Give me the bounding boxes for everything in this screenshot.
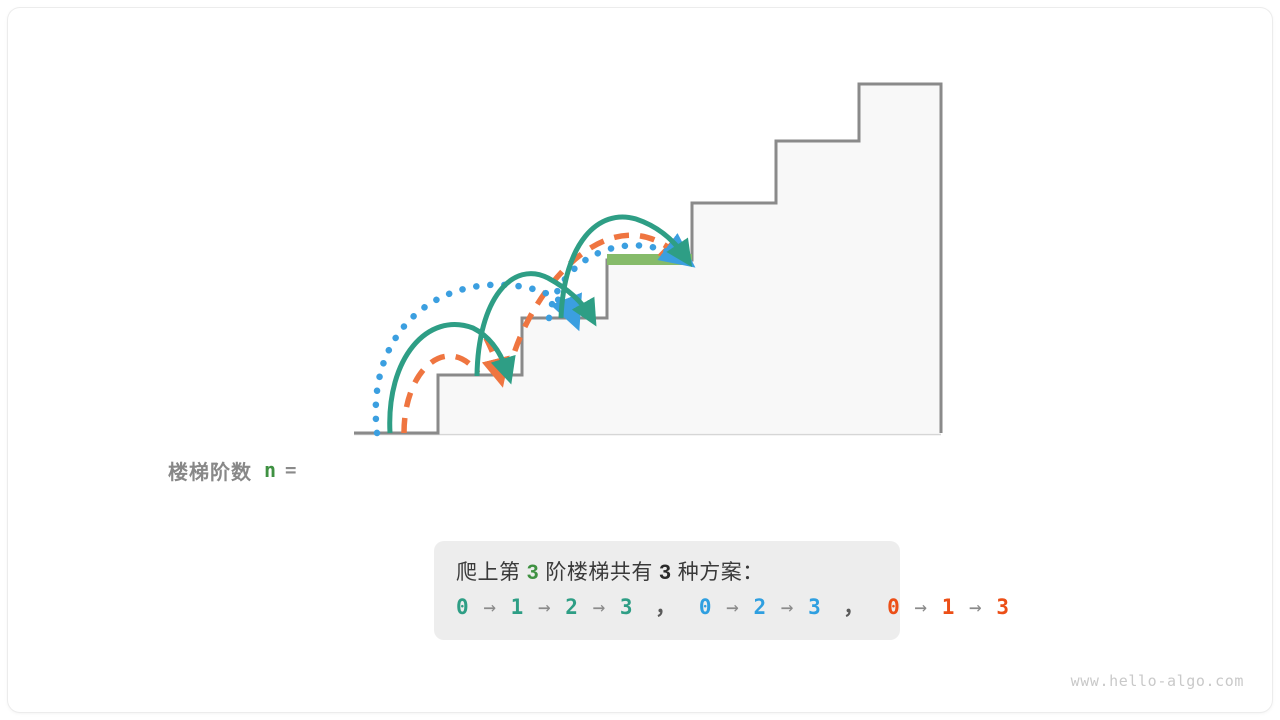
caption-target-step: 3 xyxy=(527,561,539,584)
path-1-arrow-2: → xyxy=(593,595,606,619)
caption-separator-1: ， xyxy=(655,595,676,619)
caption-box: 爬上第 3 阶楼梯共有 3 种方案： 0 → 1 → 2 → 3 ， 0 → 2 xyxy=(434,541,900,640)
caption-text-a: 爬上第 xyxy=(456,561,521,584)
caption-separator-2: ， xyxy=(843,595,864,619)
caption-way-count: 3 xyxy=(659,561,671,584)
path-3-node-2: 3 xyxy=(996,595,1009,619)
path-3-arrow-0: → xyxy=(914,595,927,619)
diagram-stage: 楼梯阶数 n = 0 1 2 3 4 5 6 爬上第 3 阶楼梯共有 3 种方案… xyxy=(8,8,1272,712)
caption-line-1: 爬上第 3 阶楼梯共有 3 种方案： xyxy=(456,557,878,589)
caption-text-b: 阶楼梯共有 xyxy=(545,561,653,584)
path-3-arrow-1: → xyxy=(969,595,982,619)
watermark: www.hello-algo.com xyxy=(1071,672,1244,690)
caption-text-c: 种方案： xyxy=(678,561,764,584)
caption-line-2: 0 → 1 → 2 → 3 ， 0 → 2 → 3 ， 0 → 1 → 3 xyxy=(456,593,878,622)
path-2-arrow-0: → xyxy=(726,595,739,619)
figure-card: 楼梯阶数 n = 0 1 2 3 4 5 6 爬上第 3 阶楼梯共有 3 种方案… xyxy=(8,8,1272,712)
path-2-arrow-1: → xyxy=(781,595,794,619)
path-1-node-1: 1 xyxy=(511,595,524,619)
path-2-node-1: 2 xyxy=(753,595,766,619)
axis-tick-row: 0 1 2 3 4 5 6 xyxy=(8,450,1272,490)
path-2-node-0: 0 xyxy=(699,595,712,619)
path-1-node-0: 0 xyxy=(456,595,469,619)
path-1-node-3: 3 xyxy=(620,595,633,619)
path-1-node-2: 2 xyxy=(565,595,578,619)
path-1-arrow-1: → xyxy=(538,595,551,619)
path-1-arrow-0: → xyxy=(483,595,496,619)
path-3-node-1: 1 xyxy=(942,595,955,619)
path-3-node-0: 0 xyxy=(887,595,900,619)
path-2-node-2: 3 xyxy=(808,595,821,619)
